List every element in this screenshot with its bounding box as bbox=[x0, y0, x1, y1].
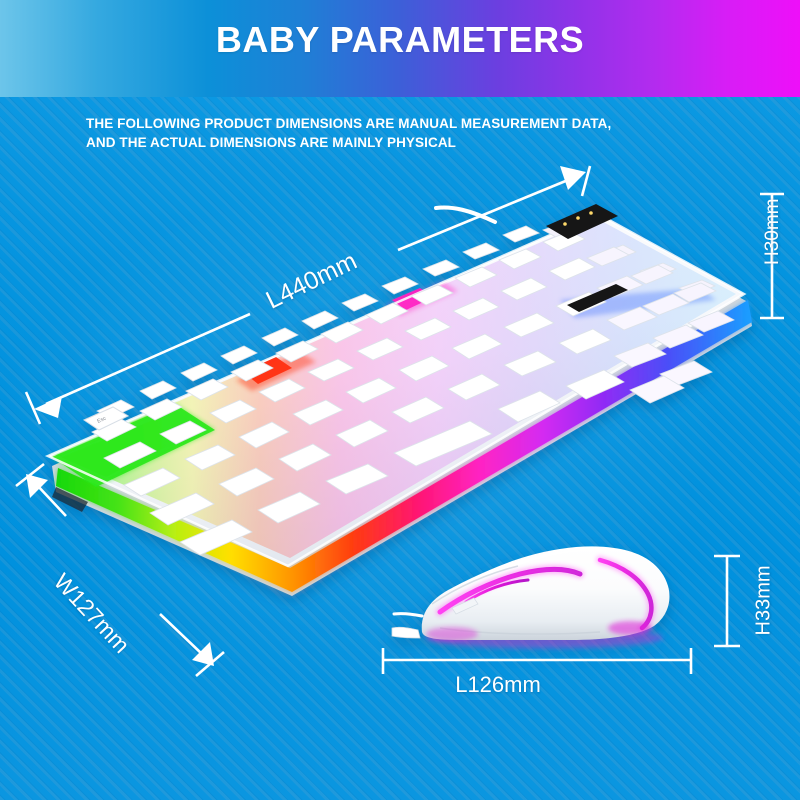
dimension-label-mouse-length: L126mm bbox=[455, 672, 541, 698]
infographic-canvas: BABY PARAMETERS THE FOLLOWING PRODUCT DI… bbox=[0, 0, 800, 800]
dimension-label-keyboard-length: L440mm bbox=[262, 247, 362, 316]
dimension-label-keyboard-width: W127mm bbox=[48, 568, 135, 658]
dimension-labels: L440mm W127mm H30mm L126mm H33mm bbox=[0, 0, 800, 800]
dimension-label-mouse-height: H33mm bbox=[753, 565, 776, 635]
dimension-label-keyboard-height: H30mm bbox=[762, 198, 784, 265]
